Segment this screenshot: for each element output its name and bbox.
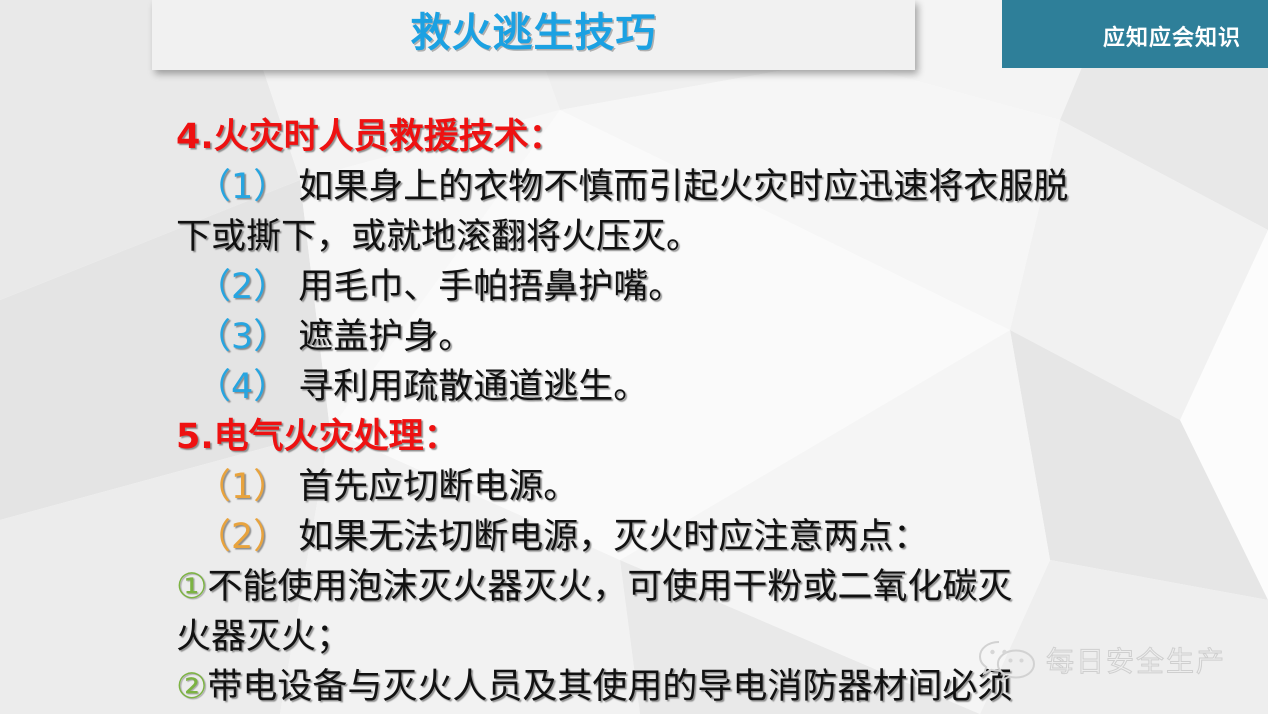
item-text-6: 如果无法切断电源，灭火时应注意两点： [298,517,928,557]
section-5-sub-1: ①不能使用泡沫灭火器灭火，可使用干粉或二氧化碳灭 [0,562,1268,612]
slide-canvas: 救火逃生技巧 应知应会知识 4.火灾时人员救援技术： （1）如果身上的衣物不慎而… [0,0,1268,714]
section-4-item-1: （1）如果身上的衣物不慎而引起火灾时应迅速将衣服脱 [0,162,1268,212]
item-text-1: 如果身上的衣物不慎而引起火灾时应迅速将衣服脱 [298,167,1068,207]
section-5-item-1: （1）首先应切断电源。 [0,462,1268,512]
item-marker-5: （1） [196,467,288,507]
item-text-2: 用毛巾、手帕捂鼻护嘴。 [298,267,683,307]
sub-text-2: 带电设备与灭火人员及其使用的导电消防器材间必须 [207,667,1012,707]
wechat-icon [978,638,1036,682]
page-title: 救火逃生技巧 [152,7,915,59]
title-panel: 救火逃生技巧 [152,0,915,70]
circled-number-2-icon: ② [176,667,207,707]
item-text-4: 寻利用疏散通道逃生。 [298,367,648,407]
section-5-item-2: （2）如果无法切断电源，灭火时应注意两点： [0,512,1268,562]
section-4-item-4: （4）寻利用疏散通道逃生。 [0,362,1268,412]
item-text-5: 首先应切断电源。 [298,467,578,507]
item-text-3: 遮盖护身。 [298,317,473,357]
item-marker-1: （1） [196,167,288,207]
section-4-item-1-cont: 下或撕下，或就地滚翻将火压灭。 [0,212,1268,262]
slide-body: 4.火灾时人员救援技术： （1）如果身上的衣物不慎而引起火灾时应迅速将衣服脱 下… [0,112,1268,714]
watermark: 每日安全生产 [978,638,1226,682]
section-4-item-3: （3）遮盖护身。 [0,312,1268,362]
section-4-heading: 4.火灾时人员救援技术： [0,112,1268,162]
item-marker-2: （2） [196,267,288,307]
item-marker-3: （3） [196,317,288,357]
item-marker-6: （2） [196,517,288,557]
watermark-label: 每日安全生产 [1046,640,1226,680]
section-5-heading: 5.电气火灾处理： [0,412,1268,462]
section-4-item-2: （2）用毛巾、手帕捂鼻护嘴。 [0,262,1268,312]
corner-badge-label: 应知应会知识 [1103,20,1241,52]
item-marker-4: （4） [196,367,288,407]
circled-number-1-icon: ① [176,567,207,607]
corner-badge: 应知应会知识 [1002,0,1268,68]
sub-text-1: 不能使用泡沫灭火器灭火，可使用干粉或二氧化碳灭 [207,567,1012,607]
